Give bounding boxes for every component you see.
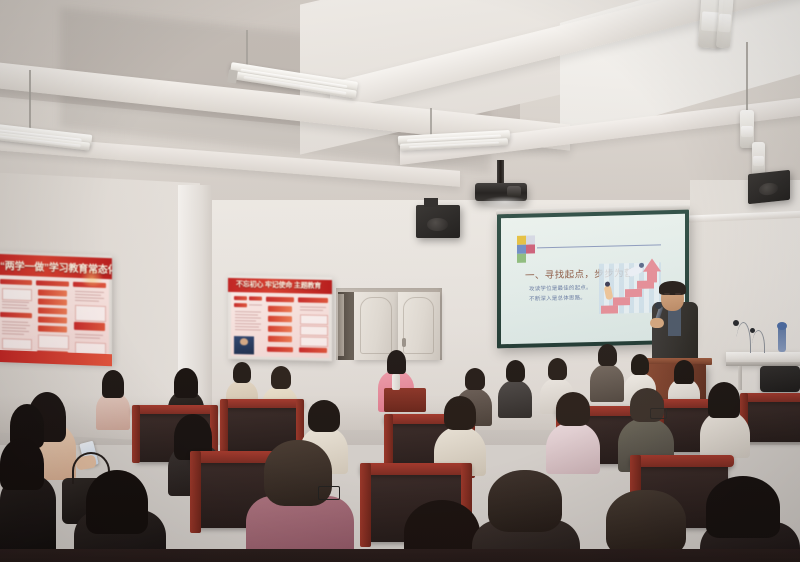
lamp-wire — [746, 42, 748, 110]
poster-board-right: 不忘初心 牢记使命 主题教育 — [228, 275, 332, 361]
attendee — [498, 360, 532, 416]
eyeglasses-icon — [650, 408, 667, 419]
door-handle-icon[interactable] — [402, 338, 406, 347]
slide-decor-square — [526, 235, 535, 244]
poster-column — [73, 282, 106, 359]
presenter-hand — [650, 318, 664, 328]
portrait-face-icon — [240, 338, 249, 345]
lamp-wire — [29, 70, 31, 132]
wall-speaker — [748, 170, 790, 204]
slide-stair-step — [601, 305, 618, 313]
attendee — [546, 392, 600, 472]
presenter-eye — [664, 293, 670, 295]
speaker-mount — [424, 198, 438, 207]
slide-stair-step — [613, 297, 630, 305]
slide-decor-square — [517, 254, 526, 263]
poster-column — [0, 279, 32, 356]
projector-mount-pole — [497, 160, 504, 185]
poster-column — [266, 297, 294, 356]
poster-board-left: “两学一做”学习教育常态化制度化 — [0, 251, 112, 364]
slide-divider-line — [537, 244, 661, 248]
projector-light-glow — [482, 196, 528, 208]
attendee-foreground — [246, 440, 354, 562]
poster-column — [234, 296, 262, 355]
seat-desk — [384, 388, 426, 412]
slide-decor-square — [517, 236, 526, 245]
attendee — [700, 382, 750, 456]
attendee-foreground — [0, 438, 56, 558]
foreground-shadow-band — [0, 549, 800, 562]
poster-banner-title: 不忘初心 牢记使命 主题教育 — [236, 279, 321, 291]
slide-body-line-1: 攻读学位是最佳的起点。 — [529, 283, 592, 293]
office-chair[interactable] — [760, 366, 800, 392]
slide-stair-step — [625, 289, 642, 297]
presenter-eye — [675, 293, 681, 295]
speaker-cone-icon — [759, 182, 778, 196]
speaker-cone-icon — [427, 218, 447, 231]
fluorescent-tube-lamp — [752, 142, 765, 176]
door-leaf-open[interactable] — [338, 294, 344, 356]
microphone-head-icon — [777, 322, 787, 330]
slide-body-line-2: 不断深入是总体思路。 — [529, 293, 586, 302]
poster-column — [298, 297, 328, 356]
wall-speaker — [416, 205, 460, 238]
slide-decor-square — [517, 245, 526, 254]
microphone-head-icon — [655, 302, 662, 309]
eyeglasses-icon — [318, 486, 340, 500]
attendee — [96, 370, 130, 428]
slide-stair-step — [647, 270, 657, 282]
microphone-head-icon — [733, 320, 739, 326]
water-cup — [392, 374, 400, 390]
poster-portrait — [234, 336, 254, 354]
conference-hall-photo: 一、寻找起点，步步为营 攻读学位是最佳的起点。 不断深入是总体思路。 “两学一做… — [0, 0, 800, 562]
poster-column — [36, 280, 69, 357]
slide-decor-square — [526, 244, 535, 253]
slide-arrow-head-icon — [643, 258, 661, 271]
microphone-head-icon — [750, 328, 755, 333]
